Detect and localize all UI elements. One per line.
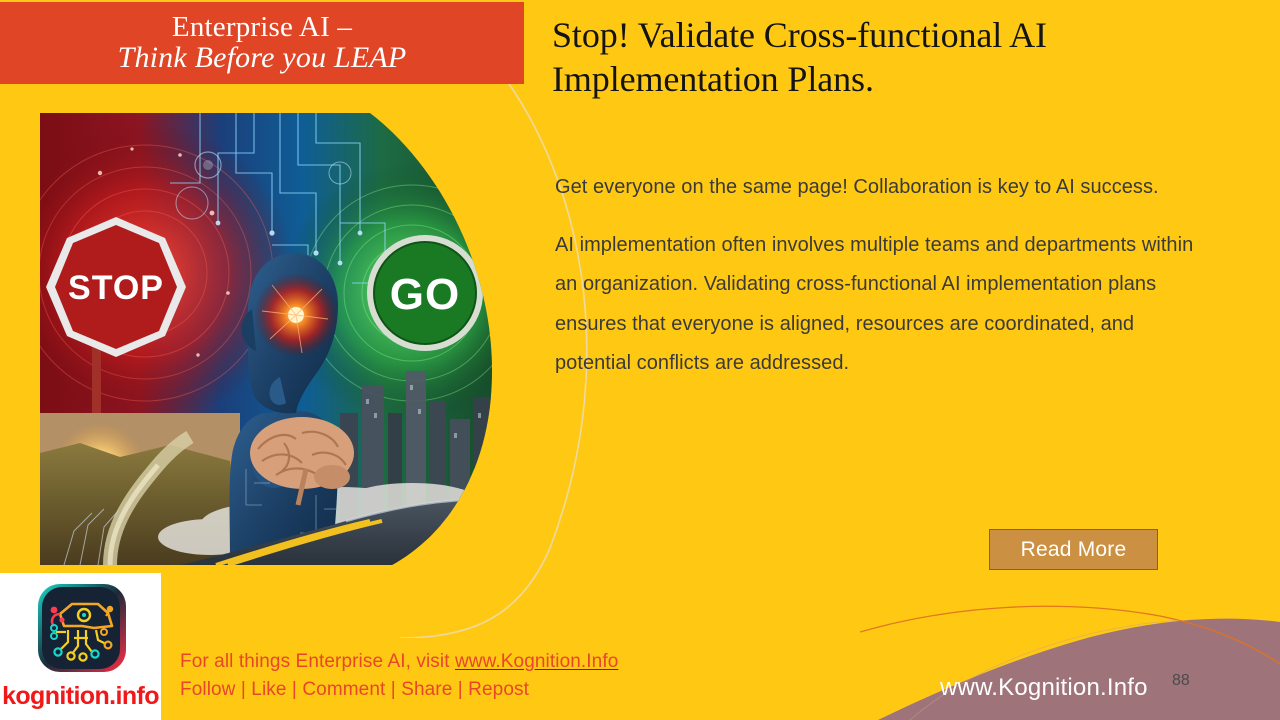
banner-line-1: Enterprise AI – [172,12,352,43]
kognition-website-link[interactable]: www.Kognition.Info [455,651,618,672]
svg-text:GO: GO [390,270,460,319]
paragraph-1: Get everyone on the same page! Collabora… [555,168,1205,208]
hero-image: STOP GO [40,113,492,565]
read-more-button[interactable]: Read More [989,529,1158,570]
footer-line-1: For all things Enterprise AI, visit www.… [180,648,740,676]
logo-wordmark: kognition.info [2,682,159,711]
footer-line-2: Follow | Like | Comment | Share | Repost [180,676,740,704]
footer-text: For all things Enterprise AI, visit www.… [180,648,740,704]
body-copy: Get everyone on the same page! Collabora… [555,168,1205,402]
footer-website-url: www.Kognition.Info [940,674,1200,702]
svg-text:STOP: STOP [68,269,164,307]
slide-banner: Enterprise AI – Think Before you LEAP [0,2,524,84]
go-sign: GO [367,235,483,351]
banner-line-2: Think Before you LEAP [118,42,407,74]
page-number: 88 [1172,672,1190,690]
ai-stop-go-decision-illustration: STOP GO [40,113,492,565]
kognition-logo[interactable]: kognition.info [0,573,161,720]
circuit-head-icon [28,580,134,680]
footer-line-1-prefix: For all things Enterprise AI, visit [180,651,455,672]
slide-canvas: Enterprise AI – Think Before you LEAP [0,0,1280,720]
paragraph-2: AI implementation often involves multipl… [555,226,1205,384]
page-title: Stop! Validate Cross-functional AI Imple… [552,14,1212,102]
